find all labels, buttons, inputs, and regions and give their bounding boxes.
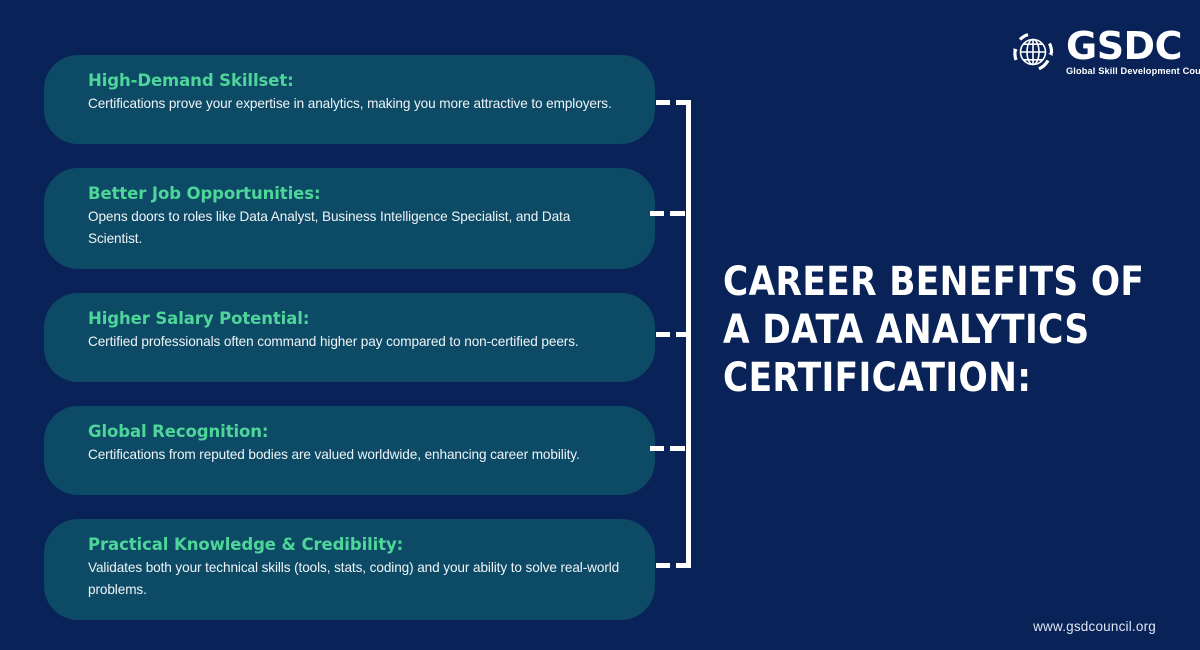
- benefit-card-body: Certifications prove your expertise in a…: [88, 93, 625, 115]
- benefit-card: Higher Salary Potential: Certified profe…: [44, 293, 655, 382]
- benefit-card-list: High-Demand Skillset: Certifications pro…: [44, 55, 655, 620]
- bracket-connector: [650, 90, 706, 580]
- footer-website-url[interactable]: www.gsdcouncil.org: [1033, 619, 1156, 634]
- benefit-card-body: Certifications from reputed bodies are v…: [88, 444, 625, 466]
- benefit-card-body: Validates both your technical skills (to…: [88, 557, 625, 602]
- benefit-card: Better Job Opportunities: Opens doors to…: [44, 168, 655, 269]
- benefit-card: Practical Knowledge & Credibility: Valid…: [44, 519, 655, 620]
- page-title: Career Benefits of a Data Analytics Cert…: [723, 258, 1153, 402]
- benefit-card-title: Better Job Opportunities:: [88, 184, 625, 203]
- benefit-card-body: Opens doors to roles like Data Analyst, …: [88, 206, 625, 251]
- page-title-line-1: Career Benefits of: [723, 258, 1093, 306]
- page-title-line-2: a Data Analytics: [723, 306, 1093, 354]
- benefit-card-title: Global Recognition:: [88, 422, 625, 441]
- benefit-card: High-Demand Skillset: Certifications pro…: [44, 55, 655, 144]
- brand-logo-text: GSDC Global Skill Development Council: [1066, 28, 1200, 76]
- benefit-card: Global Recognition: Certifications from …: [44, 406, 655, 495]
- benefit-card-title: Practical Knowledge & Credibility:: [88, 535, 625, 554]
- brand-name: GSDC: [1066, 28, 1182, 64]
- globe-icon: [1008, 27, 1058, 77]
- brand-tagline: Global Skill Development Council: [1066, 67, 1200, 76]
- brand-logo: GSDC Global Skill Development Council: [1008, 27, 1200, 77]
- benefit-card-title: Higher Salary Potential:: [88, 309, 625, 328]
- benefit-card-body: Certified professionals often command hi…: [88, 331, 625, 353]
- benefit-card-title: High-Demand Skillset:: [88, 71, 625, 90]
- page-title-line-3: Certification:: [723, 354, 1093, 402]
